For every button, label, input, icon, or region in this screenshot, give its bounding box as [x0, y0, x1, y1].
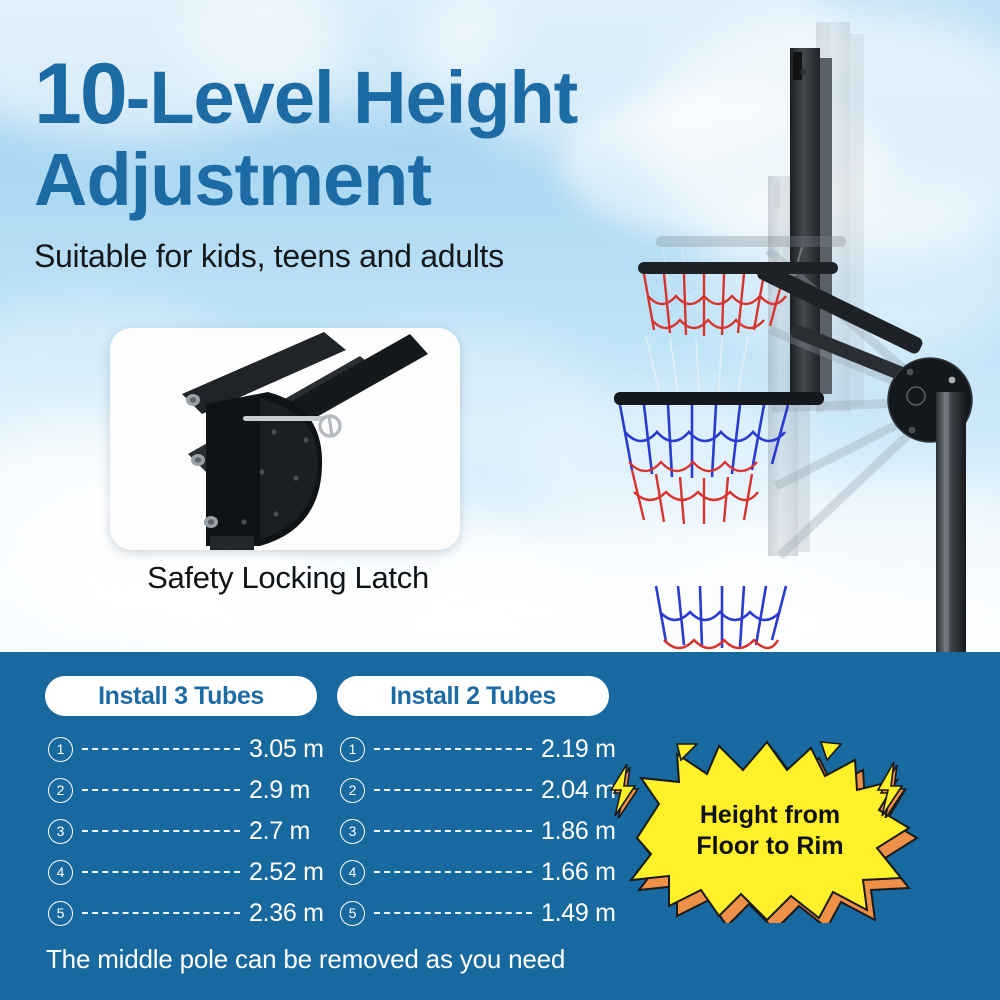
- measurement-row: 1 2.19 m: [340, 730, 616, 768]
- measurement-row: 3 2.7 m: [48, 812, 324, 850]
- row-value: 1.66 m: [541, 858, 616, 887]
- measurement-row: 4 2.52 m: [48, 853, 324, 891]
- leader-dashes: [374, 912, 532, 914]
- row-value: 2.9 m: [249, 776, 310, 805]
- row-index: 4: [340, 860, 365, 885]
- measurement-column-2-tubes: 1 2.19 m 2 2.04 m 3 1.86 m 4 1.66 m 5: [340, 730, 616, 935]
- row-value: 2.52 m: [249, 858, 324, 887]
- row-index: 3: [48, 819, 73, 844]
- latch-photo: [110, 328, 460, 550]
- measurement-row: 2 2.04 m: [340, 771, 616, 809]
- headline-line-1-rest: -Level Height: [126, 56, 578, 139]
- leader-dashes: [374, 871, 532, 873]
- leader-dashes: [82, 912, 240, 914]
- headline-line-1: 10-Level Height: [34, 52, 674, 137]
- row-index: 5: [340, 901, 365, 926]
- leader-dashes: [82, 748, 240, 750]
- lightning-bolt-right-icon: [872, 760, 908, 818]
- safety-latch-photo-card: [110, 328, 460, 550]
- row-index: 1: [340, 737, 365, 762]
- subtitle: Suitable for kids, teens and adults: [34, 238, 504, 275]
- measurement-column-3-tubes: 1 3.05 m 2 2.9 m 3 2.7 m 4 2.52 m 5: [48, 730, 324, 935]
- column-title-install-2-tubes: Install 2 Tubes: [337, 676, 609, 716]
- measurement-row: 3 1.86 m: [340, 812, 616, 850]
- page-title: 10-Level Height Adjustment: [34, 52, 674, 216]
- row-value: 2.7 m: [249, 817, 310, 846]
- leader-dashes: [374, 789, 532, 791]
- row-value: 1.86 m: [541, 817, 616, 846]
- measurement-row: 2 2.9 m: [48, 771, 324, 809]
- headline-number: 10: [34, 46, 126, 142]
- spark-triangle-left-icon: [677, 744, 697, 760]
- leader-dashes: [82, 789, 240, 791]
- spark-triangle-right-icon: [821, 742, 841, 760]
- row-index: 1: [48, 737, 73, 762]
- panel-footnote: The middle pole can be removed as you ne…: [46, 944, 565, 975]
- measurement-row: 5 1.49 m: [340, 894, 616, 932]
- latch-caption: Safety Locking Latch: [123, 560, 453, 596]
- row-index: 3: [340, 819, 365, 844]
- headline-line-2: Adjustment: [34, 143, 674, 216]
- leader-dashes: [82, 830, 240, 832]
- measurement-row: 5 2.36 m: [48, 894, 324, 932]
- leader-dashes: [374, 830, 532, 832]
- leader-dashes: [374, 748, 532, 750]
- leader-dashes: [82, 871, 240, 873]
- column-title-install-3-tubes: Install 3 Tubes: [45, 676, 317, 716]
- row-value: 2.36 m: [249, 899, 324, 928]
- lightning-bolt-left-icon: [605, 762, 641, 818]
- row-value: 1.49 m: [541, 899, 616, 928]
- row-value: 2.19 m: [541, 735, 616, 764]
- measurement-row: 1 3.05 m: [48, 730, 324, 768]
- row-index: 5: [48, 901, 73, 926]
- row-value: 3.05 m: [249, 735, 324, 764]
- measurement-row: 4 1.66 m: [340, 853, 616, 891]
- row-index: 2: [48, 778, 73, 803]
- row-index: 2: [340, 778, 365, 803]
- product-infographic: 10-Level Height Adjustment Suitable for …: [0, 0, 1000, 1000]
- row-index: 4: [48, 860, 73, 885]
